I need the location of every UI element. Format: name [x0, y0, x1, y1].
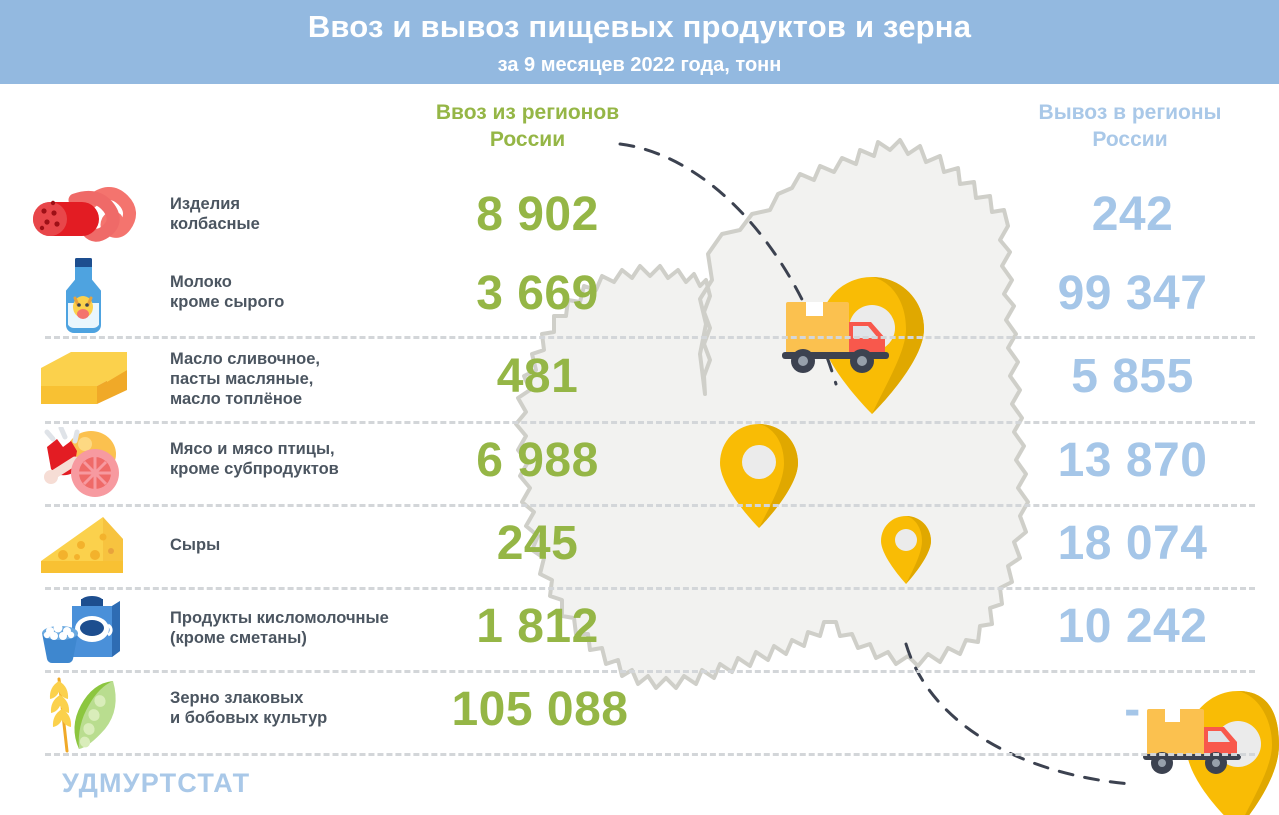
import-value: 105 088: [390, 686, 690, 734]
table-row: Зерно злаковых и бобовых культур 105 088…: [0, 670, 1279, 755]
import-value: 1 812: [400, 603, 675, 651]
table-row: Мясо и мясо птицы, кроме субпродуктов 6 …: [0, 421, 1279, 504]
meat-icon: [20, 421, 145, 504]
cheese-icon: [20, 504, 145, 587]
page-title: Ввоз и вывоз пищевых продуктов и зерна: [0, 0, 1279, 42]
row-label: Сыры: [170, 535, 435, 555]
import-value: 6 988: [400, 437, 675, 485]
export-value: 5 855: [1000, 353, 1265, 401]
export-value: 18 074: [1000, 520, 1265, 568]
table-row: Масло сливочное, пасты масляные, масло т…: [0, 337, 1279, 421]
import-value: 3 669: [400, 270, 675, 318]
sausage-icon: [20, 178, 145, 254]
export-value: 10 242: [1000, 603, 1265, 651]
export-value: 99 347: [1000, 270, 1265, 318]
export-column-header: Вывоз в регионы России: [985, 100, 1275, 154]
dairy-products-icon: [20, 587, 145, 670]
grain-icon: [20, 670, 145, 755]
header-band: Ввоз и вывоз пищевых продуктов и зерна з…: [0, 0, 1279, 84]
export-value: 13 870: [1000, 437, 1265, 485]
table-row: Сыры 245 18 074: [0, 504, 1279, 587]
milk-bottle-icon: [20, 254, 145, 337]
table-row: Изделия колбасные 8 902 242: [0, 178, 1279, 254]
export-value: -: [1000, 686, 1265, 734]
table-row: Молоко кроме сырого 3 669 99 347: [0, 254, 1279, 337]
import-value: 8 902: [400, 191, 675, 239]
row-label: Масло сливочное, пасты масляные, масло т…: [170, 349, 435, 409]
import-value: 481: [400, 353, 675, 401]
import-value: 245: [400, 520, 675, 568]
export-value: 242: [1000, 191, 1265, 239]
butter-icon: [20, 337, 145, 421]
row-label: Молоко кроме сырого: [170, 272, 435, 312]
import-column-header: Ввоз из регионов России: [345, 100, 710, 154]
udmurtstat-logo: УДМУРТСТАТ: [62, 768, 250, 799]
page-subtitle: за 9 месяцев 2022 года, тонн: [0, 42, 1279, 75]
table-row: Продукты кисломолочные (кроме сметаны) 1…: [0, 587, 1279, 670]
row-label: Мясо и мясо птицы, кроме субпродуктов: [170, 439, 435, 479]
row-label: Изделия колбасные: [170, 194, 435, 234]
